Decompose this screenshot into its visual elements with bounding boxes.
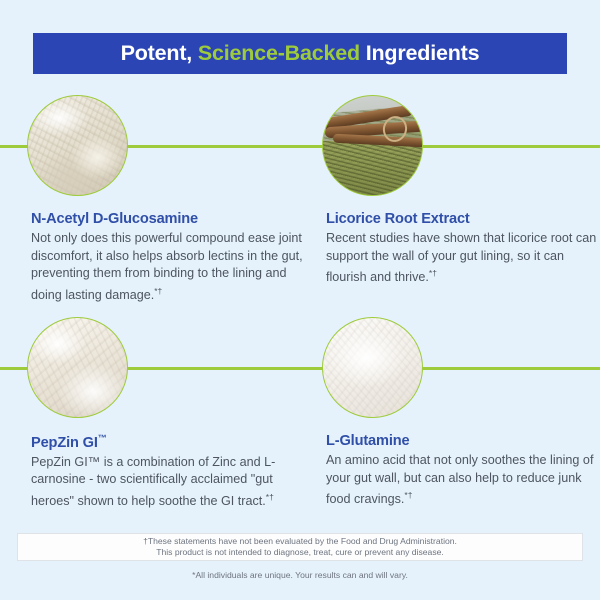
ingredient-name-text: PepZin GI (31, 435, 98, 451)
l-glutamine-powder-photo (322, 317, 423, 418)
header-banner: Potent, Science-Backed Ingredients (33, 33, 567, 74)
ingredient-name: Licorice Root Extract (326, 211, 598, 227)
footnote-marker: *† (154, 286, 162, 296)
ingredient-description: Recent studies have shown that licorice … (326, 230, 598, 287)
ingredient-description: Not only does this powerful compound eas… (31, 230, 303, 304)
ingredient-card-licorice-root-extract: Licorice Root Extract Recent studies hav… (322, 95, 598, 287)
ground-herb-layer (323, 141, 422, 195)
ingredient-name: L-Glutamine (326, 433, 598, 449)
ingredient-name: PepZin GI™ (31, 433, 303, 451)
ingredient-card-pepzin-gi: PepZin GI™ PepZin GI™ is a combination o… (27, 317, 303, 511)
fda-disclaimer-box: †These statements have not been evaluate… (17, 533, 583, 561)
ingredient-description-text: PepZin GI™ is a combination of Zinc and … (31, 455, 275, 508)
page-title-part2: Ingredients (360, 41, 479, 65)
ingredient-name-text: Licorice Root Extract (326, 211, 470, 227)
ingredient-card-l-glutamine: L-Glutamine An amino acid that not only … (322, 317, 598, 509)
results-vary-note: *All individuals are unique. Your result… (0, 570, 600, 580)
ingredient-description-text: Recent studies have shown that licorice … (326, 231, 596, 284)
pepzin-gi-powder-photo (27, 317, 128, 418)
ingredient-description-text: An amino acid that not only soothes the … (326, 453, 593, 506)
footnote-marker: *† (404, 490, 412, 500)
licorice-root-photo (322, 95, 423, 196)
page-title: Potent, Science-Backed Ingredients (121, 41, 480, 66)
ingredient-description-text: Not only does this powerful compound eas… (31, 231, 303, 302)
footnote-marker: *† (266, 492, 274, 502)
footnote-marker: *† (429, 268, 437, 278)
page-title-accent: Science-Backed (198, 41, 360, 65)
ingredient-description: PepZin GI™ is a combination of Zinc and … (31, 454, 303, 511)
trademark-symbol: ™ (98, 433, 107, 443)
page-title-part1: Potent, (121, 41, 198, 65)
ingredient-name-text: L-Glutamine (326, 433, 409, 449)
ingredient-description: An amino acid that not only soothes the … (326, 452, 598, 509)
fda-disclaimer-line-2: This product is not intended to diagnose… (156, 547, 444, 559)
ingredient-name: N-Acetyl D-Glucosamine (31, 211, 303, 227)
n-acetyl-d-glucosamine-powder-photo (27, 95, 128, 196)
fda-disclaimer-line-1: †These statements have not been evaluate… (143, 536, 457, 548)
ingredient-name-text: N-Acetyl D-Glucosamine (31, 211, 198, 227)
ingredient-card-n-acetyl-d-glucosamine: N-Acetyl D-Glucosamine Not only does thi… (27, 95, 303, 304)
